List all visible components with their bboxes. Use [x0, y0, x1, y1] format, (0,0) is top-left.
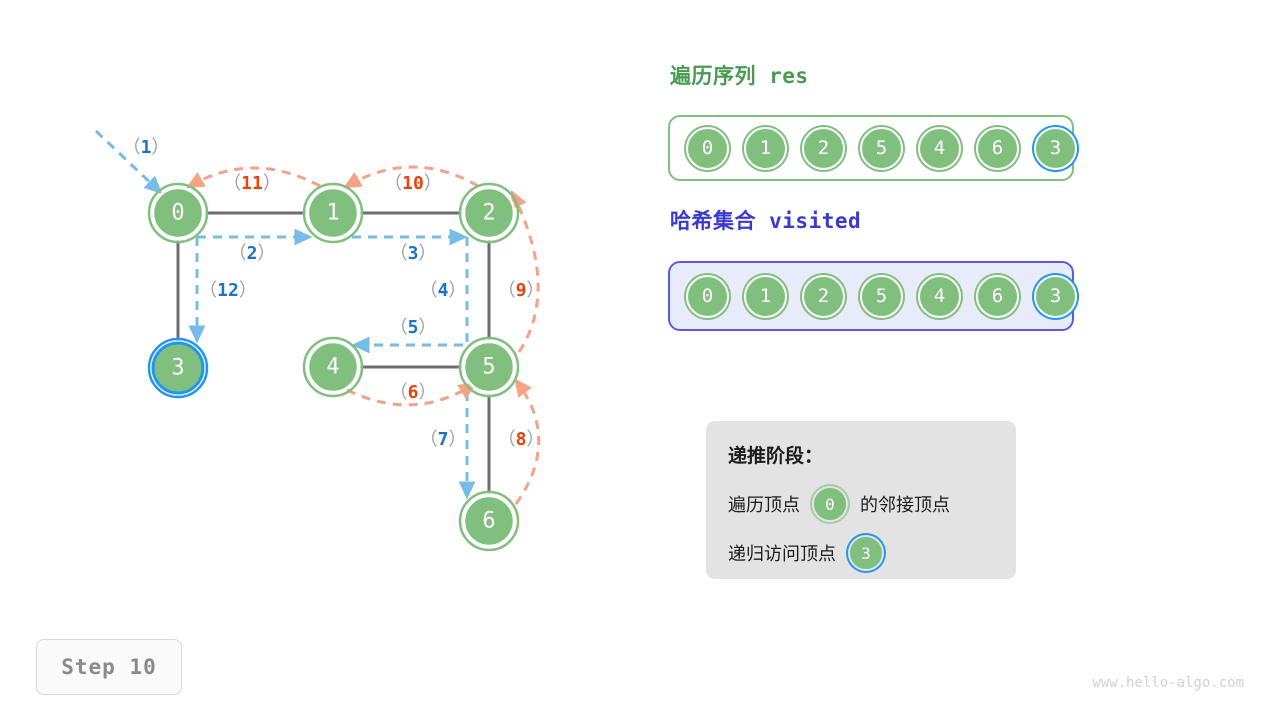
vertex-0-label: 0	[171, 201, 184, 226]
phase-line-2-prefix: 递归访问顶点	[728, 540, 836, 566]
res-panel-title: 遍历序列 res	[670, 60, 809, 90]
watermark: www.hello-algo.com	[1092, 675, 1244, 691]
graph-canvas: 0 1 2 3 4	[0, 0, 660, 620]
vertex-5[interactable]: 5	[460, 338, 518, 396]
step-label-12: （12）	[199, 280, 257, 301]
step-label-8: （8）	[498, 429, 545, 450]
visited-cell: 4	[918, 275, 961, 318]
vertex-5-label: 5	[482, 355, 495, 380]
step-label-10: （10）	[384, 173, 442, 194]
step-label-3: （3）	[390, 243, 437, 264]
visited-panel: 哈希集合 visited	[670, 205, 861, 235]
res-cell: 2	[802, 127, 845, 170]
phase-line-2: 递归访问顶点 3	[728, 535, 994, 571]
visited-cell: 6	[976, 275, 1019, 318]
step-label-2: （2）	[229, 243, 276, 264]
visited-cell-box: 0125463	[668, 261, 1074, 331]
phase-heading: 递推阶段：	[728, 441, 994, 468]
vertex-3-label: 3	[171, 356, 184, 381]
res-cell: 1	[744, 127, 787, 170]
res-cell-box: 0125463	[668, 115, 1074, 181]
vertex-2-label: 2	[482, 201, 495, 226]
step-badge: Step 10	[36, 639, 182, 695]
phase-line-2-chip: 3	[848, 535, 884, 571]
res-panel: 遍历序列 res	[670, 60, 809, 90]
visited-cell: 2	[802, 275, 845, 318]
res-cell: 4	[918, 127, 961, 170]
vertex-6[interactable]: 6	[460, 492, 518, 550]
visited-cell: 3	[1034, 275, 1077, 318]
step-label-6: （6）	[390, 382, 437, 403]
vertex-3[interactable]: 3	[149, 339, 207, 397]
visited-cell: 0	[686, 275, 729, 318]
res-cell: 5	[860, 127, 903, 170]
vertex-1-label: 1	[326, 201, 339, 226]
res-cell: 6	[976, 127, 1019, 170]
res-cell: 0	[686, 127, 729, 170]
phase-line-1: 遍历顶点 0 的邻接顶点	[728, 486, 994, 522]
graph-vertices: 0 1 2 3 4	[149, 184, 518, 550]
visited-cell: 1	[744, 275, 787, 318]
step-label-5: （5）	[390, 317, 437, 338]
step-label-9: （9）	[498, 280, 545, 301]
phase-line-1-prefix: 遍历顶点	[728, 491, 800, 517]
step-label-11: （11）	[223, 173, 281, 194]
visited-panel-title: 哈希集合 visited	[670, 205, 861, 235]
res-cell: 3	[1034, 127, 1077, 170]
step-label-4: （4）	[420, 280, 467, 301]
phase-line-1-chip: 0	[812, 486, 848, 522]
vertex-1[interactable]: 1	[304, 184, 362, 242]
vertex-0[interactable]: 0	[149, 184, 207, 242]
vertex-2[interactable]: 2	[460, 184, 518, 242]
vertex-4-label: 4	[326, 355, 339, 380]
step-label-1: （1）	[123, 137, 170, 158]
phase-info-box: 递推阶段： 遍历顶点 0 的邻接顶点 递归访问顶点 3	[706, 421, 1016, 579]
vertex-4[interactable]: 4	[304, 338, 362, 396]
phase-line-1-suffix: 的邻接顶点	[860, 491, 950, 517]
visited-cell: 5	[860, 275, 903, 318]
step-label-7: （7）	[420, 429, 467, 450]
vertex-6-label: 6	[482, 509, 495, 534]
